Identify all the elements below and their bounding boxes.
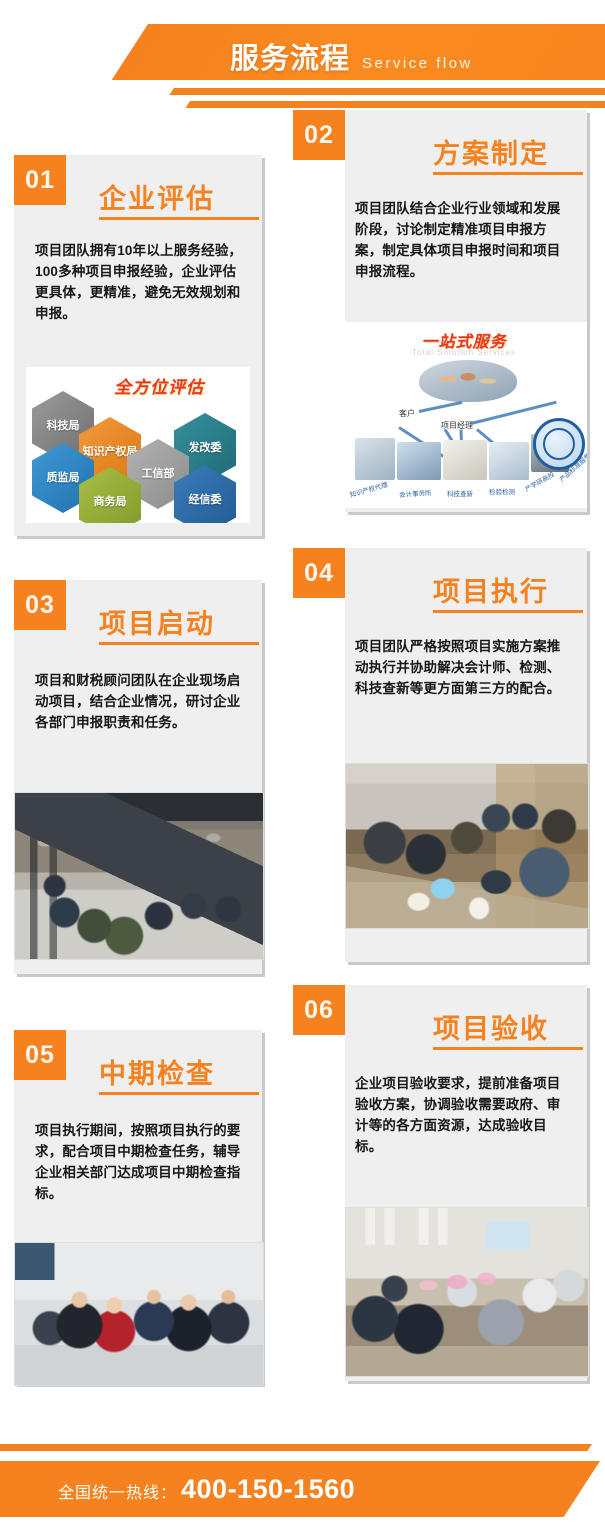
card-04-title-rule (433, 610, 583, 613)
lobby-visit-photo (14, 1242, 264, 1386)
acceptance-meeting-photo (345, 1207, 589, 1377)
one-stop-thumb-novelty (443, 440, 487, 480)
card-05-title: 中期检查 (99, 1052, 215, 1091)
meeting-room-photo-people (15, 793, 263, 959)
one-stop-service-diagram: 一站式服务 Total Solution Services 客户 项目经理 知识… (341, 322, 587, 508)
hotline-number[interactable]: 400-150-1560 (181, 1474, 355, 1505)
lobby-visit-photo-faces (15, 1243, 263, 1385)
footer-thin-bar (0, 1444, 500, 1451)
hexagon-diagram-title: 全方位评估 (114, 373, 204, 398)
one-stop-service-label-3: 检验检测 (489, 486, 515, 496)
footer-main-bar-skew (364, 1461, 600, 1517)
hex-node-keji-label: 科技局 (47, 420, 80, 433)
card-05-description: 项目执行期间，按照项目执行的要求，配合项目中期检查任务，辅导企业相关部门达成项目… (35, 1120, 243, 1204)
step-card-06[interactable]: 06 项目验收 企业项目验收要求，提前准备项目验收方案，协调验收需要政府、审计等… (293, 985, 591, 1385)
one-stop-service-label-0: 知识产权代理 (348, 479, 388, 499)
card-01-title: 企业评估 (99, 177, 215, 216)
card-03-title: 项目启动 (99, 602, 215, 641)
header-band-tertiary (185, 101, 605, 108)
acceptance-meeting-photo-flowers (346, 1208, 588, 1376)
card-03-title-rule (99, 642, 259, 645)
page-header: 服务流程 Service flow (0, 0, 605, 118)
hotline-group: 全国统一热线： 400-150-1560 (58, 1474, 355, 1505)
hex-node-zhijianju-label: 质监局 (47, 472, 80, 485)
hex-node-jingxinwei-label: 经信委 (189, 494, 222, 507)
card-02-title: 方案制定 (433, 132, 549, 171)
one-stop-service-label-1: 会计事务所 (399, 487, 432, 499)
card-04-number-badge: 04 (293, 548, 345, 598)
one-stop-thumb-testing (489, 442, 529, 480)
service-flow-poster: 服务流程 Service flow 01 企业评估 项目团队拥有10年以上服务经… (0, 0, 605, 1538)
step-card-02[interactable]: 02 方案制定 项目团队结合企业行业领域和发展阶段，讨论制定精准项目申报方案，制… (293, 110, 591, 516)
card-04-title: 项目执行 (433, 570, 549, 609)
card-05-number-badge: 05 (14, 1030, 66, 1080)
meeting-room-photo (14, 792, 264, 960)
footer-thin-bar-skew (427, 1444, 592, 1451)
page-footer: 全国统一热线： 400-150-1560 (0, 1388, 605, 1538)
hex-node-fagaiwei-label: 发改委 (189, 442, 222, 455)
card-02-title-rule (433, 172, 583, 175)
one-stop-thumb-accounting (397, 442, 441, 480)
working-session-photo-objects (346, 764, 588, 928)
one-stop-arrow-1 (419, 401, 463, 413)
one-stop-thumb-ip (355, 438, 395, 480)
card-01-number-badge: 01 (14, 155, 66, 205)
hotline-label: 全国统一热线： (58, 1479, 177, 1503)
card-06-description: 企业项目验收要求，提前准备项目验收方案，协调验收需要政府、审计等的各方面资源，达… (355, 1073, 569, 1157)
card-06-title-rule (433, 1047, 583, 1050)
hex-node-shangwuju-label: 商务局 (94, 496, 127, 509)
step-card-03[interactable]: 03 项目启动 项目和财税顾问团队在企业现场启动项目，结合企业情况，研讨企业各部… (14, 580, 266, 978)
one-stop-client-label: 客户 (399, 408, 415, 419)
card-03-number-badge: 03 (14, 580, 66, 630)
step-card-05[interactable]: 05 中期检查 项目执行期间，按照项目执行的要求，配合项目中期检查任务，辅导企业… (14, 1030, 266, 1388)
card-01-title-rule (99, 217, 259, 220)
card-02-description: 项目团队结合企业行业领域和发展阶段，讨论制定精准项目申报方案，制定具体项目申报时… (355, 198, 569, 282)
card-05-title-rule (99, 1092, 259, 1095)
step-card-04[interactable]: 04 项目执行 项目团队严格按照项目实施方案推动执行并协助解决会计师、检测、科技… (293, 548, 591, 966)
header-title-group: 服务流程 Service flow (230, 35, 473, 77)
card-03-description: 项目和财税顾问团队在企业现场启动项目，结合企业情况，研讨企业各部门申报职责和任务… (35, 670, 243, 733)
card-04-description: 项目团队严格按照项目实施方案推动执行并协助解决会计师、检测、科技查新等更方面第三… (355, 636, 569, 699)
card-06-title: 项目验收 (433, 1007, 549, 1046)
step-card-01[interactable]: 01 企业评估 项目团队拥有10年以上服务经验，100多种项目申报经验，企业评估… (14, 155, 266, 540)
page-subtitle: Service flow (362, 55, 473, 72)
hex-node-gongxinbu-label: 工信部 (142, 468, 175, 481)
one-stop-service-label-2: 科技查新 (447, 488, 473, 498)
page-title: 服务流程 (230, 35, 350, 77)
card-02-number-badge: 02 (293, 110, 345, 160)
one-stop-center-photo (419, 360, 517, 402)
working-session-photo (345, 763, 589, 929)
one-stop-subtitle: Total Solution Services (412, 348, 516, 357)
header-band-secondary (169, 88, 605, 95)
card-06-number-badge: 06 (293, 985, 345, 1035)
card-01-description: 项目团队拥有10年以上服务经验，100多种项目申报经验，企业评估更具体，更精准，… (35, 240, 243, 324)
assessment-hexagon-diagram: 全方位评估 科技局 知识产权局 发改委 质监局 工信部 经信委 商务局 (26, 367, 250, 523)
